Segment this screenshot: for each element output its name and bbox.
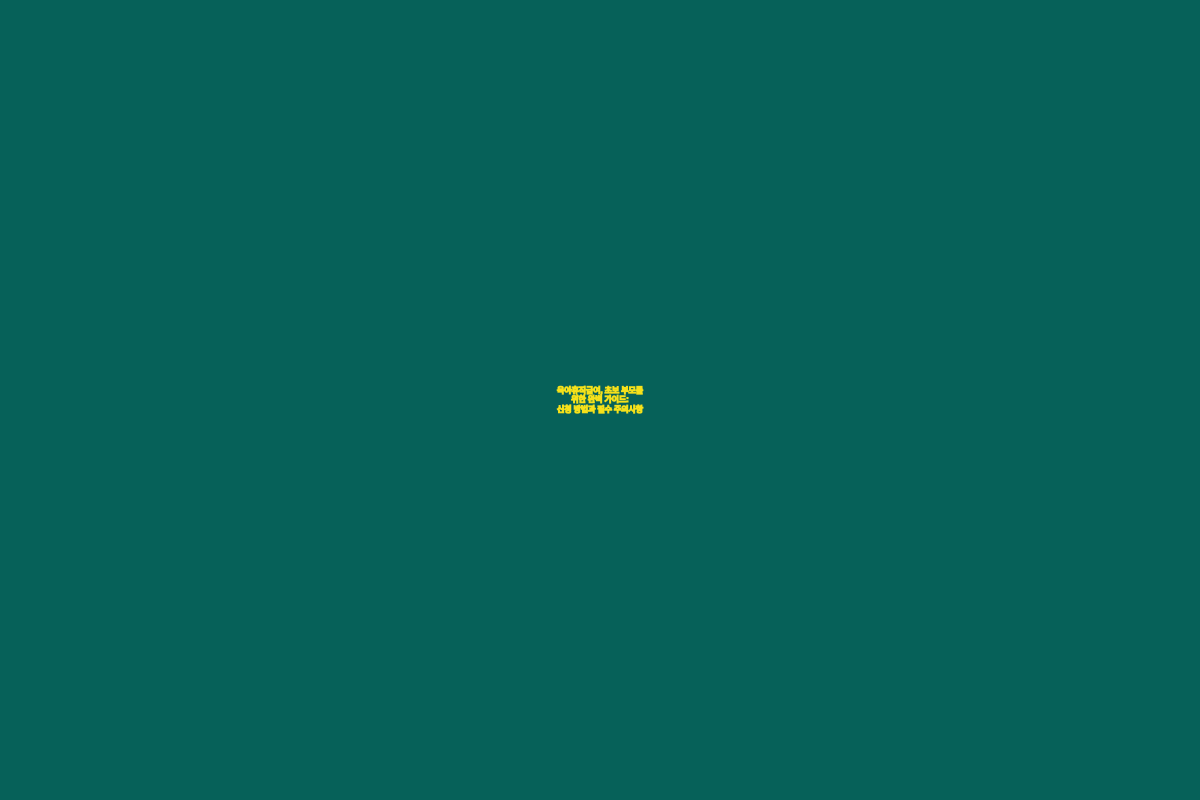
headline-block: 육아휴직급여, 초보 부모를 위한 완벽 가이드: 신청 방법과 필수 주의사항 [0,386,1200,414]
headline-line-3: 신청 방법과 필수 주의사항 [24,405,1176,414]
headline-line-1: 육아휴직급여, 초보 부모를 [24,386,1176,395]
title-card: 육아휴직급여, 초보 부모를 위한 완벽 가이드: 신청 방법과 필수 주의사항 [0,0,1200,800]
headline-line-2: 위한 완벽 가이드: [24,395,1176,404]
